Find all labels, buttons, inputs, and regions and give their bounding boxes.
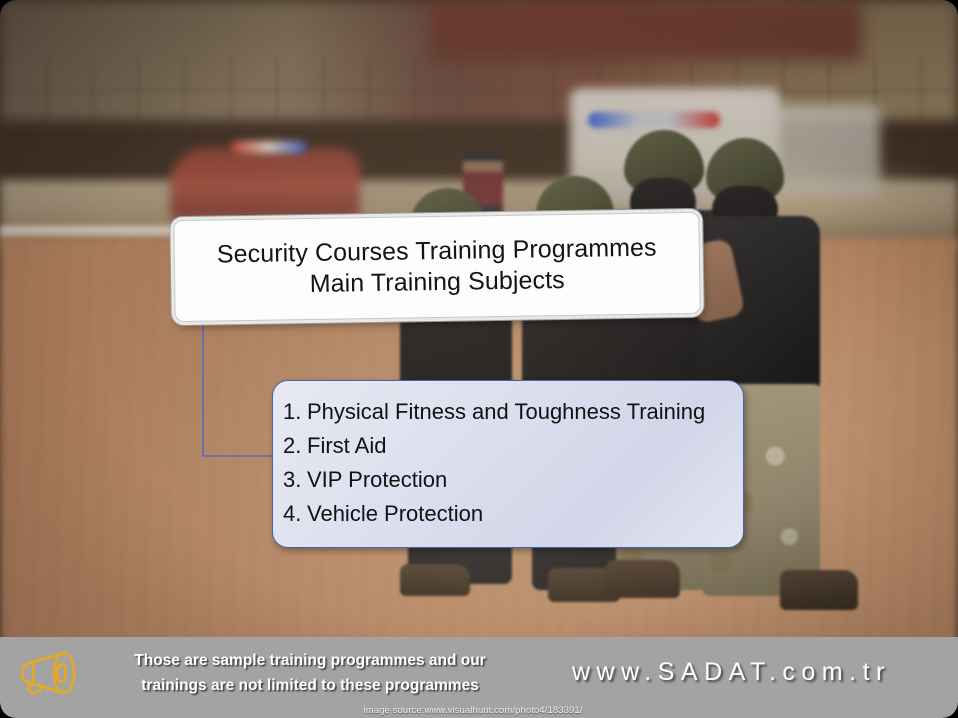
website-url[interactable]: www.SADAT.com.tr — [572, 658, 891, 687]
photo-red-wall — [431, 0, 862, 60]
list-item-label: Physical Fitness and Toughness Training — [307, 395, 705, 429]
boot — [400, 564, 470, 596]
slide-title-line-1: Security Courses Training Programmes — [217, 233, 657, 271]
image-source-credit: İmage source:www.visualhunt.com/photo4/1… — [363, 705, 583, 716]
banner-note: Those are sample training programmes and… — [90, 649, 530, 697]
photo-red-car-lightbar — [232, 141, 306, 153]
list-item: 4. Vehicle Protection — [283, 497, 743, 531]
megaphone-icon — [16, 648, 82, 700]
presentation-slide: Security Courses Training Programmes Mai… — [0, 0, 958, 718]
boot — [780, 570, 858, 610]
training-subjects-box: 1. Physical Fitness and Toughness Traini… — [272, 380, 744, 548]
list-item-label: VIP Protection — [307, 463, 447, 497]
list-item-number: 3. — [283, 463, 307, 497]
photo-red-car — [170, 148, 360, 220]
background-photo — [0, 0, 958, 718]
list-item-label: Vehicle Protection — [307, 497, 483, 531]
list-item-number: 1. — [283, 395, 307, 429]
list-item: 2. First Aid — [283, 429, 743, 463]
list-item-label: First Aid — [307, 429, 386, 463]
list-item: 1. Physical Fitness and Toughness Traini… — [283, 395, 743, 429]
slide-title-line-2: Main Training Subjects — [309, 265, 565, 300]
bottom-banner: Those are sample training programmes and… — [0, 637, 958, 718]
list-item-number: 2. — [283, 429, 307, 463]
list-item-number: 4. — [283, 497, 307, 531]
list-item: 3. VIP Protection — [283, 463, 743, 497]
boot — [606, 560, 680, 598]
banner-note-line-2: trainings are not limited to these progr… — [90, 674, 530, 698]
slide-title-box: Security Courses Training Programmes Mai… — [173, 212, 701, 322]
photo-white-van-lightbar — [588, 112, 720, 128]
training-subjects-list: 1. Physical Fitness and Toughness Traini… — [283, 395, 743, 531]
banner-note-line-1: Those are sample training programmes and… — [90, 649, 530, 673]
